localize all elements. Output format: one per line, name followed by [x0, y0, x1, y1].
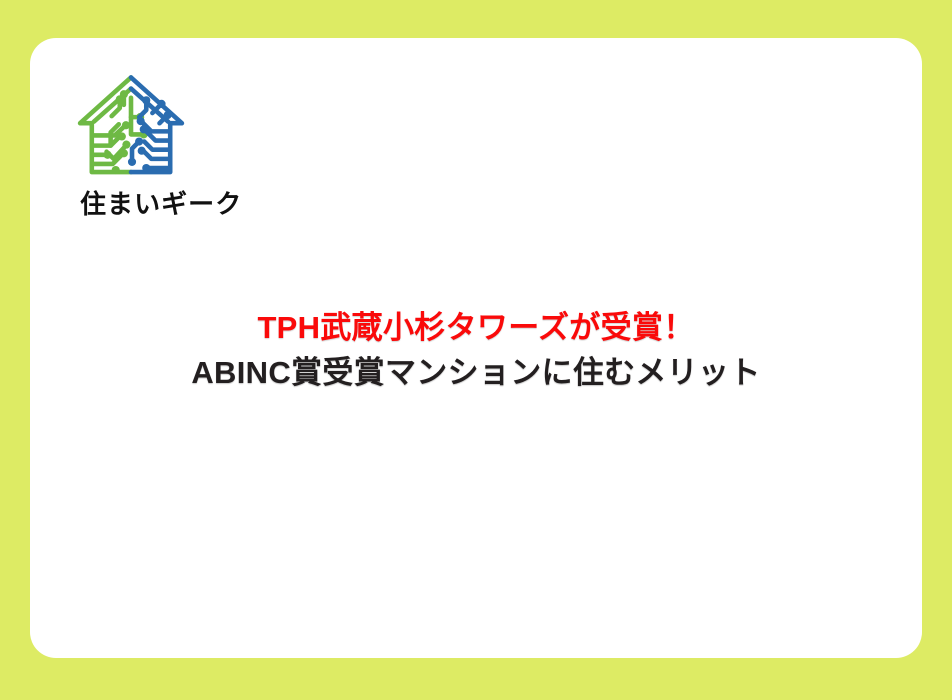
brand-name: 住まいギーク [80, 190, 315, 219]
slide-canvas: 住まいギーク TPH武蔵小杉タワーズが受賞！ ABINC賞受賞マンションに住むメ… [0, 0, 952, 700]
smart-house-circuit-logo-icon [75, 70, 187, 180]
headline-block: TPH武蔵小杉タワーズが受賞！ ABINC賞受賞マンションに住むメリット [30, 306, 922, 396]
content-card: 住まいギーク TPH武蔵小杉タワーズが受賞！ ABINC賞受賞マンションに住むメ… [30, 38, 922, 658]
headline-line-2: ABINC賞受賞マンションに住むメリット [30, 351, 922, 396]
headline-line-1: TPH武蔵小杉タワーズが受賞！ [30, 306, 922, 351]
brand-block: 住まいギーク [55, 70, 315, 219]
